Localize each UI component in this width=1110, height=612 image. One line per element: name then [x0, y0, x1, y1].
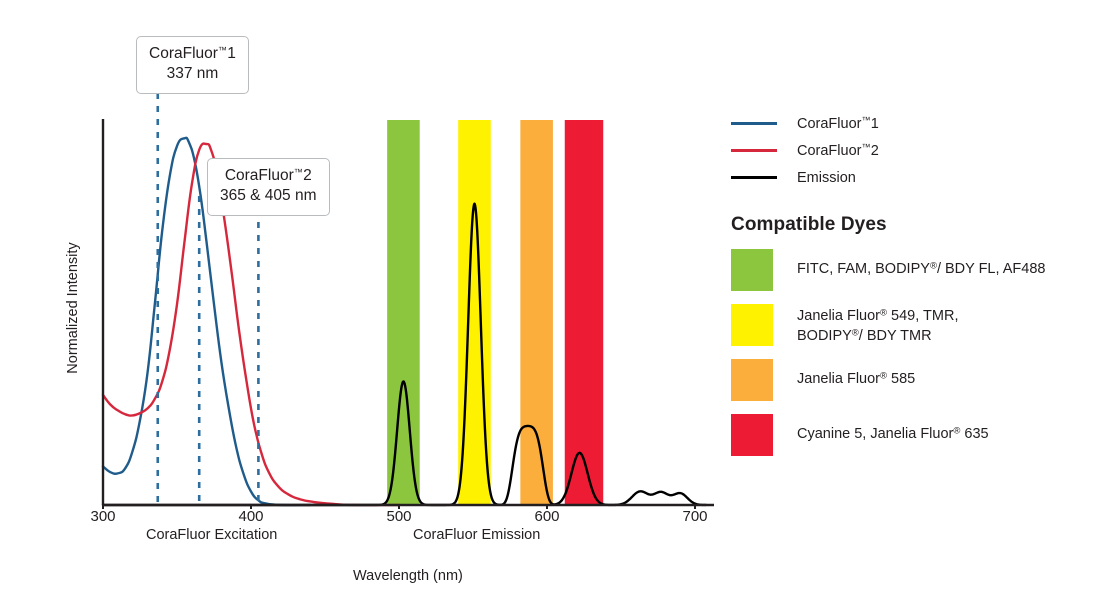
dye-label-line: FITC, FAM, BODIPY®/ BDY FL, AF488 [797, 259, 1045, 279]
dye-color-swatch [731, 359, 773, 401]
dye-label-line: Cyanine 5, Janelia Fluor® 635 [797, 424, 989, 444]
compatible-dyes-list: FITC, FAM, BODIPY®/ BDY FL, AF488Janelia… [731, 249, 1101, 456]
trademark-icon: ™ [218, 45, 227, 55]
registered-icon: ® [880, 370, 887, 381]
dye-label-line: Janelia Fluor® 549, TMR, [797, 306, 958, 326]
legend-series-name: CoraFluor [797, 116, 861, 132]
orange-band [520, 120, 553, 505]
legend-panel: CoraFluor™1CoraFluor™2Emission Compatibl… [731, 110, 1101, 456]
callout-cf1-number: 1 [227, 45, 236, 62]
callout-cf1-line1: CoraFluor™1 [149, 44, 236, 64]
legend-series-number: 1 [871, 116, 879, 132]
registered-icon: ® [880, 307, 887, 318]
dye-label: Janelia Fluor® 549, TMR,BODIPY®/ BDY TMR [797, 304, 958, 346]
dye-row: Janelia Fluor® 549, TMR,BODIPY®/ BDY TMR [731, 304, 1101, 346]
x-tick-label-400: 400 [221, 508, 281, 525]
x-tick-label-500: 500 [369, 508, 429, 525]
legend-line-swatch [731, 176, 777, 179]
legend-row-corafluor1: CoraFluor™1 [731, 110, 1101, 137]
dye-color-swatch [731, 414, 773, 456]
dye-label-line: BODIPY®/ BDY TMR [797, 326, 958, 346]
series-legend: CoraFluor™1CoraFluor™2Emission [731, 110, 1101, 191]
legend-series-name: Emission [797, 170, 856, 186]
callout-cf2-line2: 365 & 405 nm [220, 186, 317, 206]
legend-line-swatch [731, 122, 777, 125]
compatible-dyes-title: Compatible Dyes [731, 214, 1101, 236]
legend-line-label: CoraFluor™1 [797, 115, 879, 132]
axis-sublabel-excitation: CoraFluor Excitation [146, 527, 277, 543]
dye-label: FITC, FAM, BODIPY®/ BDY FL, AF488 [797, 249, 1045, 279]
spectra-figure: 300400500600700 CoraFluor Excitation Cor… [0, 0, 1110, 612]
x-axis-title: Wavelength (nm) [353, 568, 463, 584]
callout-corafluor-2: CoraFluor™2 365 & 405 nm [207, 158, 330, 216]
y-axis-title: Normalized Intensity [65, 218, 81, 398]
callout-cf1-line2: 337 nm [149, 64, 236, 84]
legend-line-label: Emission [797, 170, 856, 186]
axis-sublabel-emission: CoraFluor Emission [413, 527, 540, 543]
registered-icon: ® [953, 425, 960, 436]
dye-label-line: Janelia Fluor® 585 [797, 369, 915, 389]
callout-cf2-name: CoraFluor [225, 167, 294, 184]
emission-band-group [387, 120, 603, 505]
legend-row-emission: Emission [731, 164, 1101, 191]
red-band [565, 120, 603, 505]
x-tick-label-300: 300 [73, 508, 133, 525]
callout-cf2-line1: CoraFluor™2 [220, 166, 317, 186]
dye-label: Cyanine 5, Janelia Fluor® 635 [797, 414, 989, 444]
callout-cf2-number: 2 [303, 167, 312, 184]
legend-line-swatch [731, 149, 777, 152]
x-tick-label-700: 700 [665, 508, 725, 525]
dye-color-swatch [731, 249, 773, 291]
registered-icon: ® [930, 260, 937, 271]
registered-icon: ® [852, 327, 859, 338]
callout-corafluor-1: CoraFluor™1 337 nm [136, 36, 249, 94]
dye-row: FITC, FAM, BODIPY®/ BDY FL, AF488 [731, 249, 1101, 291]
legend-row-corafluor2: CoraFluor™2 [731, 137, 1101, 164]
trademark-icon: ™ [294, 167, 303, 177]
dye-row: Cyanine 5, Janelia Fluor® 635 [731, 414, 1101, 456]
dye-row: Janelia Fluor® 585 [731, 359, 1101, 401]
legend-line-label: CoraFluor™2 [797, 142, 879, 159]
x-tick-label-600: 600 [517, 508, 577, 525]
legend-series-number: 2 [871, 143, 879, 159]
callout-cf1-name: CoraFluor [149, 45, 218, 62]
dye-label: Janelia Fluor® 585 [797, 359, 915, 389]
green-band [387, 120, 420, 505]
trademark-icon: ™ [861, 115, 870, 125]
legend-series-name: CoraFluor [797, 143, 861, 159]
trademark-icon: ™ [861, 142, 870, 152]
dye-color-swatch [731, 304, 773, 346]
